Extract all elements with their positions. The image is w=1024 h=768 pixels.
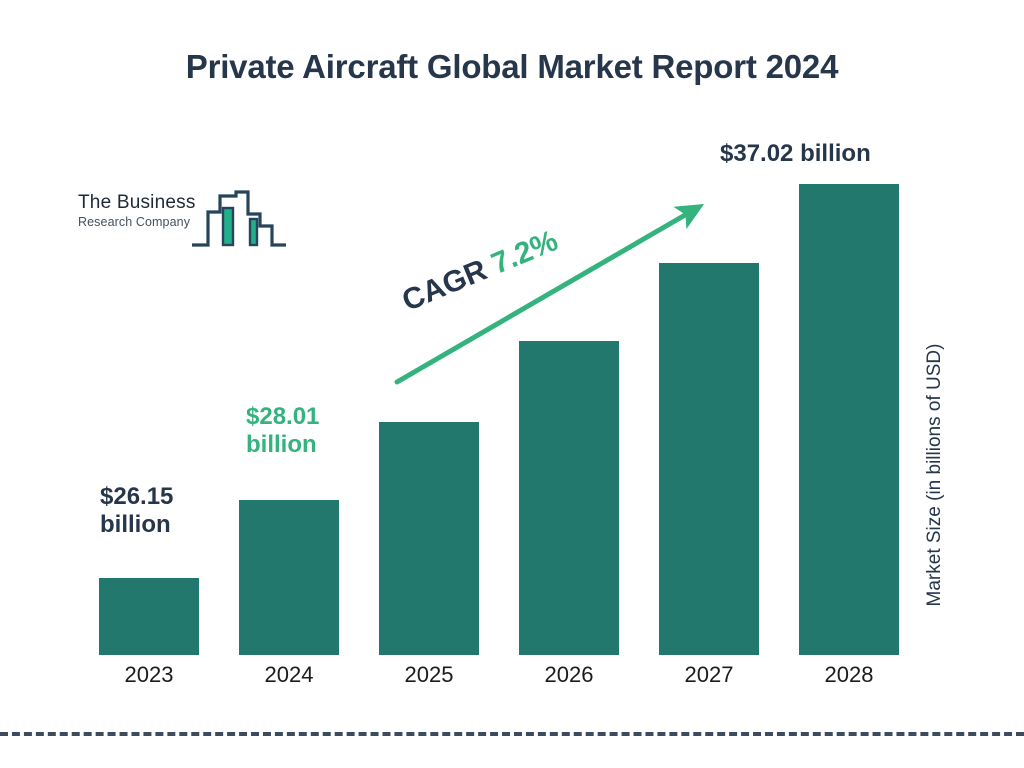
cagr-value: 7.2% bbox=[487, 224, 563, 281]
bar-2023 bbox=[99, 578, 199, 655]
value-label-2028: $37.02 billion bbox=[720, 140, 920, 168]
value-label-2023-unit: billion bbox=[100, 511, 210, 539]
x-tick-2023: 2023 bbox=[99, 662, 199, 688]
footer-divider bbox=[0, 732, 1024, 736]
x-tick-2026: 2026 bbox=[519, 662, 619, 688]
value-label-2024: $28.01 billion bbox=[246, 403, 356, 460]
value-label-2023: $26.15 billion bbox=[100, 483, 210, 540]
bar-2025 bbox=[379, 422, 479, 655]
cagr-annotation: CAGR 7.2% bbox=[397, 224, 563, 319]
value-label-2024-unit: billion bbox=[246, 431, 356, 459]
bar-2026 bbox=[519, 341, 619, 655]
bar-2027 bbox=[659, 263, 759, 655]
x-tick-2025: 2025 bbox=[379, 662, 479, 688]
bar-2024 bbox=[239, 500, 339, 655]
value-label-2024-amount: $28.01 bbox=[246, 403, 356, 431]
y-axis-title: Market Size (in billions of USD) bbox=[920, 280, 950, 670]
x-tick-2024: 2024 bbox=[239, 662, 339, 688]
cagr-label: CAGR bbox=[397, 253, 491, 317]
value-label-2023-amount: $26.15 bbox=[100, 483, 210, 511]
x-tick-2028: 2028 bbox=[799, 662, 899, 688]
chart-canvas: Private Aircraft Global Market Report 20… bbox=[0, 0, 1024, 768]
bar-2028 bbox=[799, 184, 899, 655]
x-tick-2027: 2027 bbox=[659, 662, 759, 688]
plot-area: 2023 2024 2025 2026 2027 2028 Market Siz… bbox=[0, 0, 1024, 768]
y-axis-title-text: Market Size (in billions of USD) bbox=[924, 344, 946, 607]
